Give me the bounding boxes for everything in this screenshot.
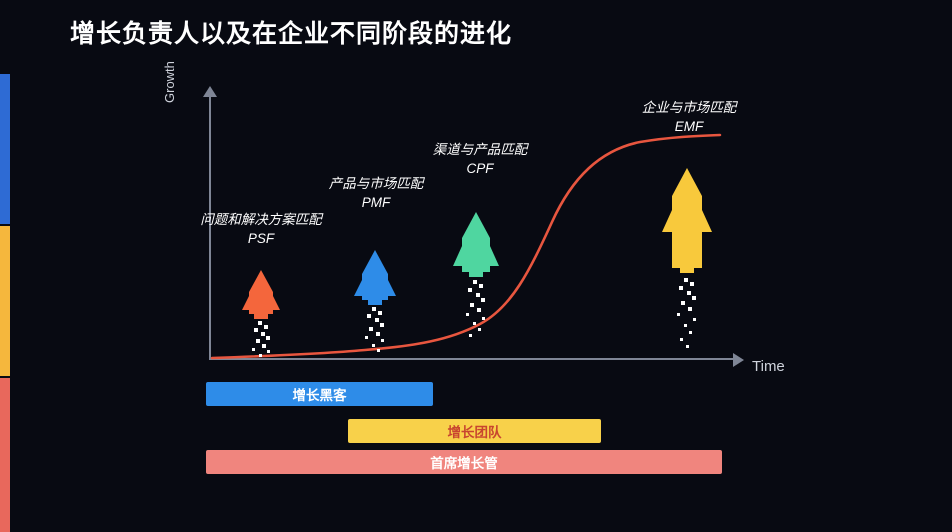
phase-bar-growth-team-label: 增长团队: [448, 421, 502, 441]
rocket-cpf-label-code: CPF: [396, 159, 564, 178]
rocket-emf-label-code: EMF: [604, 117, 774, 136]
phase-bar-chief-growth-officer-label: 首席增长管: [430, 452, 498, 472]
rocket-pmf-label-code: PMF: [291, 193, 461, 212]
rocket-emf-icon: [660, 168, 714, 353]
rocket-pmf-label-cn: 产品与市场匹配: [329, 176, 424, 191]
rocket-pmf-icon: [351, 250, 399, 360]
rocket-cpf-label-cn: 渠道与产品匹配: [433, 142, 528, 157]
x-axis-label: Time: [752, 358, 785, 375]
y-axis-arrow-icon: [203, 86, 217, 97]
rocket-cpf-icon: [450, 212, 502, 352]
phase-bar-growth-hacker-label: 增长黑客: [293, 384, 347, 404]
phase-bar-chief-growth-officer: 首席增长管: [206, 450, 722, 474]
rocket-psf-label-code: PSF: [173, 229, 349, 248]
y-axis-label: Growth: [162, 61, 177, 103]
rocket-psf-label-cn: 问题和解决方案匹配: [200, 212, 322, 227]
rocket-emf-label-cn: 企业与市场匹配: [642, 100, 737, 115]
rocket-psf-icon: [239, 270, 283, 360]
phase-bar-growth-team: 增长团队: [348, 419, 601, 443]
phase-bar-growth-hacker: 增长黑客: [206, 382, 433, 406]
diagram-canvas: Growth Time 问题和解决方案匹配 PSF: [0, 0, 952, 532]
